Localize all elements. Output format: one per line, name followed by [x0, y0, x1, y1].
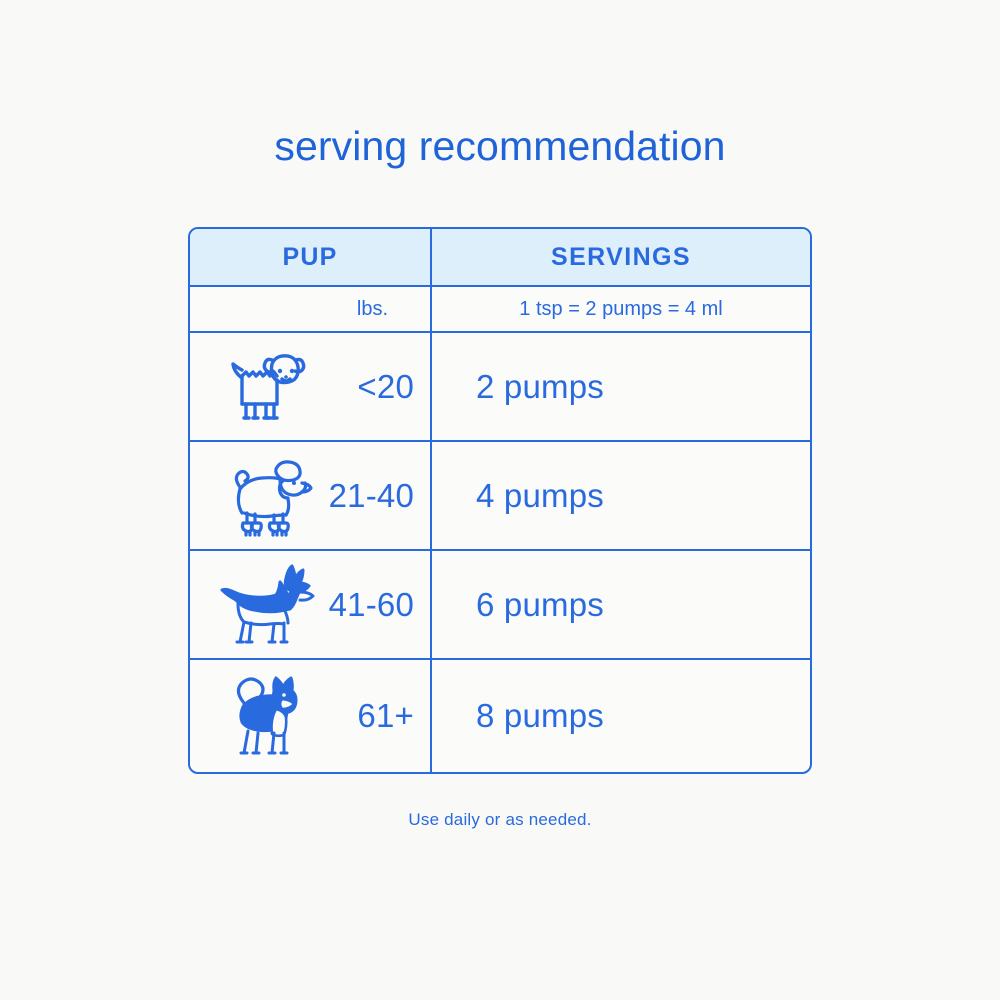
table-header-row: PUP SERVINGS	[190, 229, 810, 287]
header-cell-pup: PUP	[190, 229, 432, 285]
row-cell-servings: 2 pumps	[432, 333, 810, 440]
header-cell-servings: SERVINGS	[432, 229, 810, 285]
table-row: 41-60 6 pumps	[190, 551, 810, 660]
row-weight: 21-40	[329, 477, 430, 515]
small-dog-terrier-icon	[214, 346, 318, 428]
row-cell-servings: 8 pumps	[432, 660, 810, 772]
row-servings: 6 pumps	[432, 586, 604, 624]
row-servings: 8 pumps	[432, 697, 604, 735]
row-cell-servings: 6 pumps	[432, 551, 810, 658]
row-cell-pup: 21-40	[190, 442, 432, 549]
subheader-label-units: lbs.	[357, 298, 388, 321]
subheader-cell-servings: 1 tsp = 2 pumps = 4 ml	[432, 287, 810, 331]
row-servings: 2 pumps	[432, 368, 604, 406]
subheader-label-conversion: 1 tsp = 2 pumps = 4 ml	[519, 298, 722, 321]
poodle-dog-icon	[214, 455, 318, 537]
table-row: 61+ 8 pumps	[190, 660, 810, 772]
subheader-cell-pup: lbs.	[190, 287, 432, 331]
serving-table: PUP SERVINGS lbs. 1 tsp = 2 pumps = 4 ml	[188, 227, 812, 774]
table-row: 21-40 4 pumps	[190, 442, 810, 551]
serving-recommendation-card: serving recommendation PUP SERVINGS lbs.…	[0, 0, 1000, 1000]
row-weight: 61+	[357, 697, 430, 735]
row-cell-pup: 61+	[190, 660, 432, 772]
row-cell-servings: 4 pumps	[432, 442, 810, 549]
table-subheader-row: lbs. 1 tsp = 2 pumps = 4 ml	[190, 287, 810, 333]
german-shepherd-dog-icon	[214, 564, 318, 646]
row-cell-pup: <20	[190, 333, 432, 440]
row-cell-pup: 41-60	[190, 551, 432, 658]
row-servings: 4 pumps	[432, 477, 604, 515]
footer-note: Use daily or as needed.	[0, 810, 1000, 830]
page-title: serving recommendation	[0, 124, 1000, 169]
header-label-servings: SERVINGS	[551, 243, 691, 272]
row-weight: 41-60	[329, 586, 430, 624]
table-row: <20 2 pumps	[190, 333, 810, 442]
row-weight: <20	[357, 368, 430, 406]
header-label-pup: PUP	[282, 243, 337, 272]
husky-dog-icon	[214, 675, 318, 757]
